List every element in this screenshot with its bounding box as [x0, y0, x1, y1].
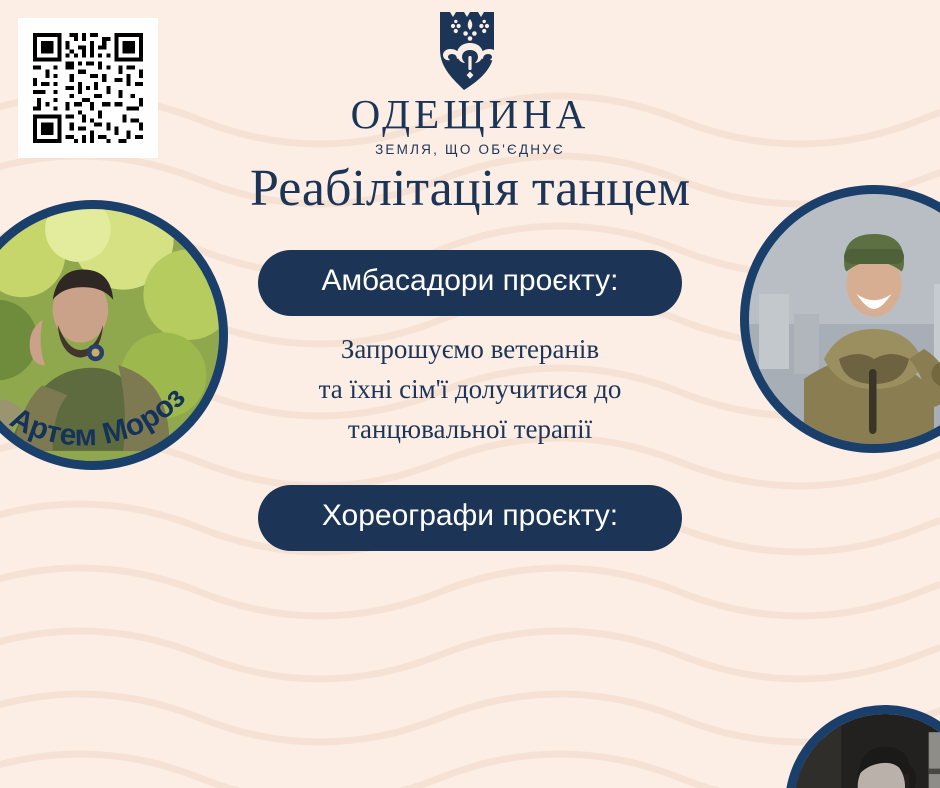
section-label-choreographers: Хореографи проєкту: — [258, 485, 682, 551]
invitation-line-3: танцювальної терапії — [240, 410, 700, 450]
section-label-ambassadors: Амбасадори проєкту: — [258, 250, 682, 316]
invitation-line-2: та їхні сім'ї долучитися до — [240, 370, 700, 410]
odeshchyna-coat-of-arms-icon — [434, 6, 506, 90]
qr-code[interactable] — [18, 18, 158, 158]
portrait-vitalii-veres: Віталій Верес Нікіта Каналюк — [740, 185, 940, 453]
portrait-nikita-kanalyuk-ring — [785, 705, 940, 788]
portrait-nikita-kanalyuk — [785, 705, 940, 788]
portrait-artem-moroz-ring — [0, 200, 228, 470]
brand-name: ОДЕЩИНА — [351, 94, 590, 135]
invitation-line-1: Запрошуємо ветеранів — [240, 330, 700, 370]
invitation-text: Запрошуємо ветеранів та їхні сім'ї долуч… — [240, 330, 700, 450]
poster-canvas: ОДЕЩИНА ЗЕМЛЯ, ЩО ОБ'ЄДНУЄ Реабілітація … — [0, 0, 940, 788]
page-title: Реабілітація танцем — [0, 162, 940, 217]
brand-tagline: ЗЕМЛЯ, ЩО ОБ'ЄДНУЄ — [375, 142, 565, 157]
portrait-artem-moroz — [0, 200, 228, 470]
qr-code-image — [29, 29, 147, 147]
portrait-vitalii-veres-ring — [740, 185, 940, 453]
